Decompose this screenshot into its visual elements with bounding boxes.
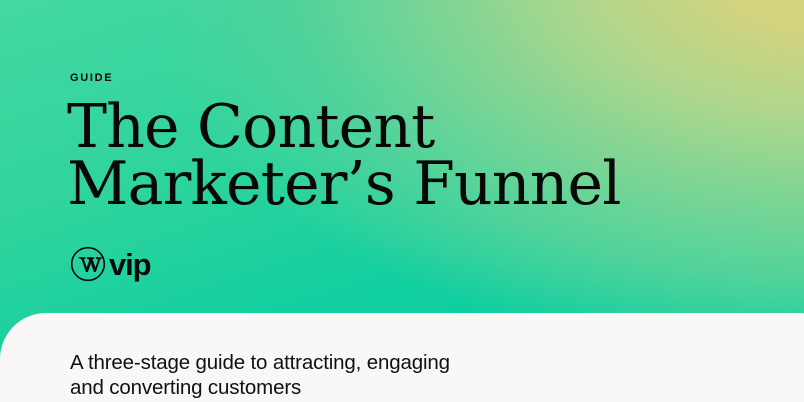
- subtitle-text: A three-stage guide to attracting, engag…: [70, 351, 784, 400]
- eyebrow-label: GUIDE: [70, 73, 113, 84]
- wordpress-logo-icon: [70, 246, 106, 282]
- description-card: A three-stage guide to attracting, engag…: [0, 313, 804, 402]
- wordpress-vip-logo: vip: [70, 246, 151, 282]
- page-title: The Content Marketer’s Funnel: [67, 99, 621, 213]
- guide-cover: GUIDE The Content Marketer’s Funnel vip …: [0, 0, 804, 402]
- description-card-inner: A three-stage guide to attracting, engag…: [70, 351, 784, 400]
- vip-wordmark: vip: [109, 250, 151, 280]
